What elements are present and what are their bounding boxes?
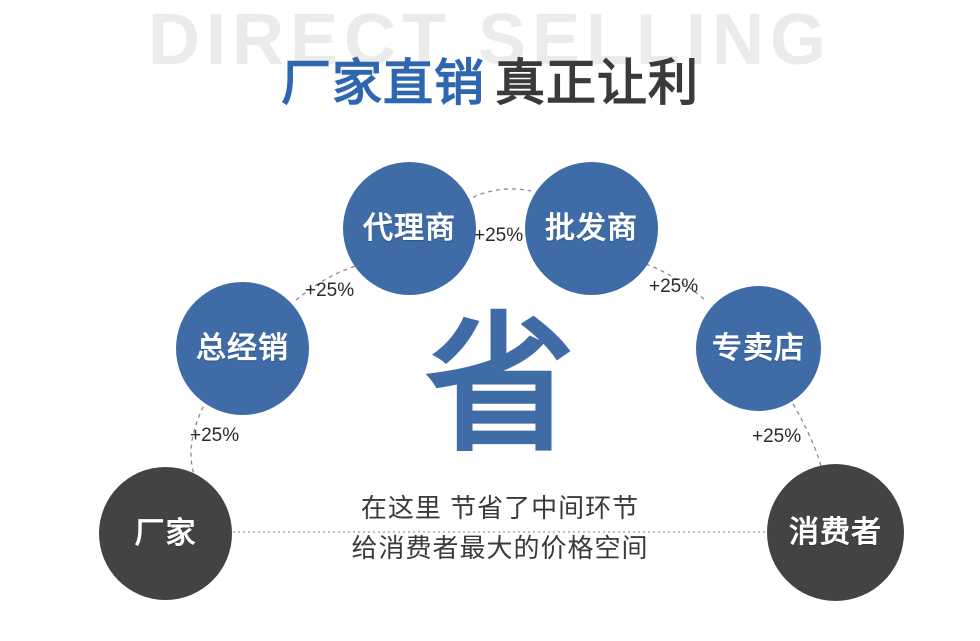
center-message: 在这里 节省了中间环节 给消费者最大的价格空间 [240,488,760,569]
direct-selling-infographic: DIRECT SELLING 厂家直销真正让利 省 总经销 代理商 批发商 专卖… [0,0,980,641]
node-zhuanmaidian[interactable]: 专卖店 [696,286,821,411]
node-dailishang[interactable]: 代理商 [343,162,476,295]
node-label-changjia: 厂家 [135,519,197,549]
center-message-line-1: 在这里 节省了中间环节 [240,488,760,528]
node-changjia[interactable]: 厂家 [99,467,232,600]
node-label-zongjingxiao: 总经销 [196,334,289,364]
center-message-line-2: 给消费者最大的价格空间 [240,528,760,568]
markup-label-changjia-zongjingxiao: +25% [190,426,239,445]
link-dailishang-pifashang [466,189,531,201]
node-pifashang[interactable]: 批发商 [525,162,658,295]
savings-glyph: 省 [400,310,600,460]
node-label-xiaofeizhe: 消费者 [789,518,882,548]
node-xiaofeizhe[interactable]: 消费者 [767,464,904,601]
markup-label-pifashang-zhuanmaidian: +25% [649,277,698,296]
node-label-pifashang: 批发商 [545,214,638,244]
node-label-zhuanmaidian: 专卖店 [712,334,805,364]
markup-label-zhuanmaidian-xiaofeizhe: +25% [752,427,801,446]
node-zongjingxiao[interactable]: 总经销 [176,282,309,415]
node-label-dailishang: 代理商 [363,214,456,244]
markup-label-dailishang-pifashang: +25% [474,226,523,245]
markup-label-zongjingxiao-dailishang: +25% [305,281,354,300]
